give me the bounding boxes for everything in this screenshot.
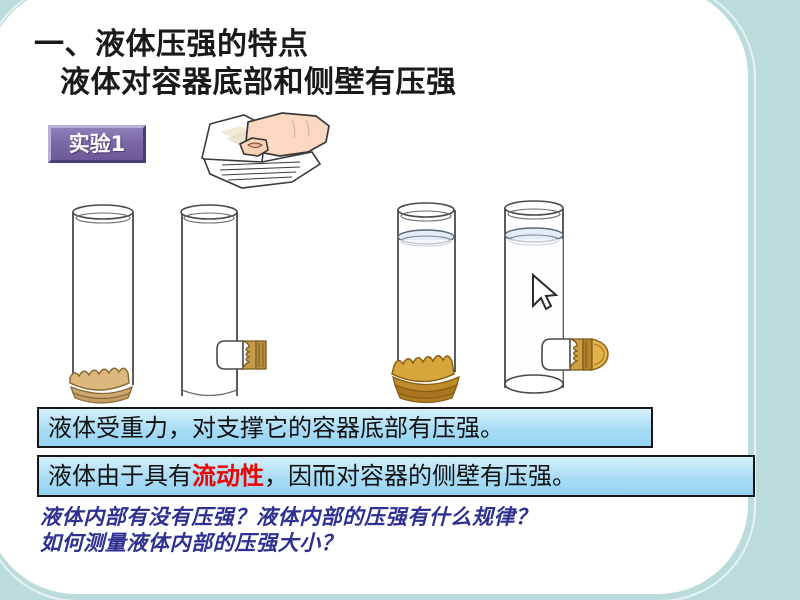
experiment-badge-label: 实验1	[69, 134, 126, 155]
statement-box-side-pressure: 液体由于具有流动性，因而对容器的侧壁有压强。	[37, 455, 755, 497]
title-line-1: 一、液体压强的特点	[34, 26, 694, 64]
slide-canvas: 一、液体压强的特点 液体对容器底部和侧壁有压强 实验1	[0, 0, 800, 600]
page-title: 一、液体压强的特点 液体对容器底部和侧壁有压强	[34, 26, 694, 103]
experiment-badge: 实验1	[48, 125, 146, 163]
statement-2-before: 液体由于具有	[48, 462, 192, 490]
statement-1-text: 液体受重力，对支撑它的容器底部有压强。	[48, 416, 504, 440]
statement-2-highlight: 流动性	[192, 462, 264, 490]
title-line-2: 液体对容器底部和侧壁有压强	[60, 64, 694, 102]
hand-paper-illustration	[196, 112, 332, 190]
question-block: 液体内部有没有压强？液体内部的压强有什么规律？ 如何测量液体内部的压强大小？	[40, 504, 780, 557]
statement-2-text: 液体由于具有流动性，因而对容器的侧壁有压强。	[48, 464, 576, 488]
statement-2-after: ，因而对容器的侧壁有压强。	[264, 462, 576, 490]
question-line-1: 液体内部有没有压强？液体内部的压强有什么规律？	[40, 504, 780, 530]
question-line-2: 如何测量液体内部的压强大小？	[40, 530, 780, 556]
statement-box-bottom-pressure: 液体受重力，对支撑它的容器底部有压强。	[37, 407, 653, 448]
